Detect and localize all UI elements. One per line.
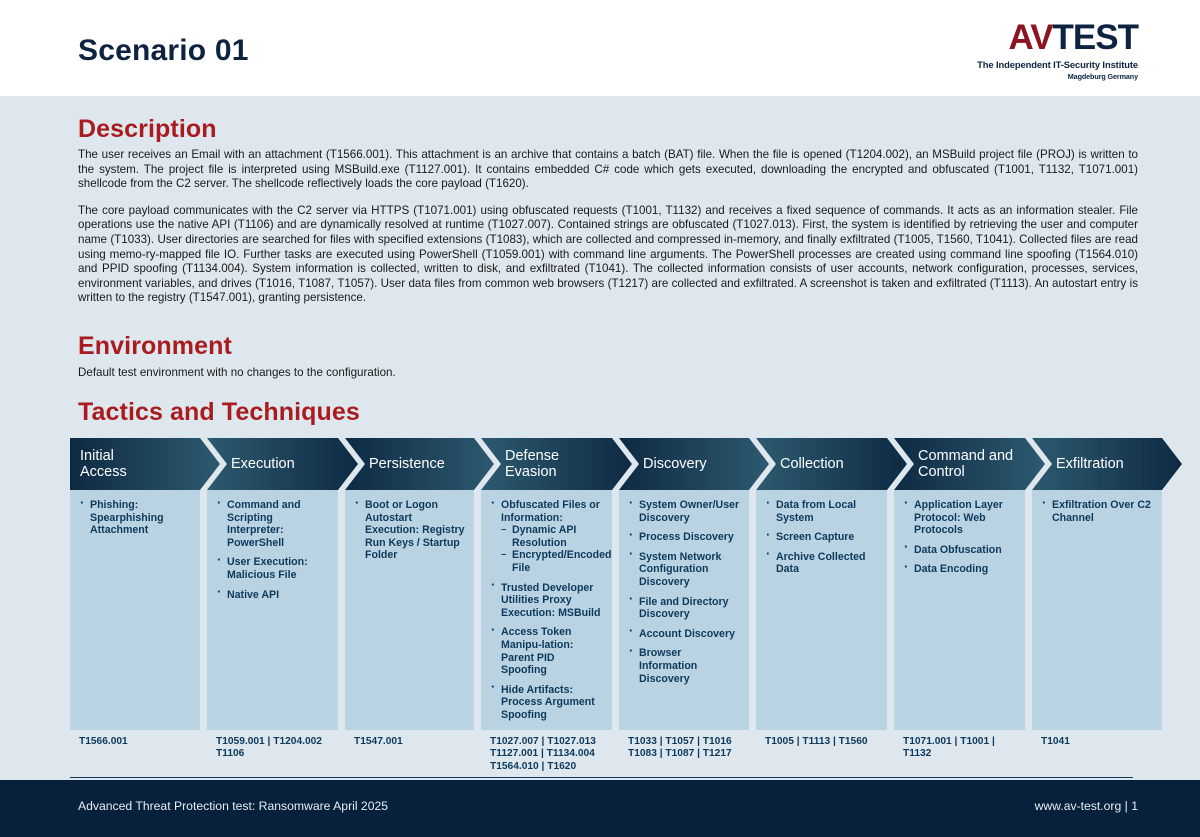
avtest-logo: AVTEST The Independent IT-Security Insti…	[960, 20, 1138, 81]
technique-item-label: File and Directory Discovery	[639, 596, 728, 621]
technique-column-2: Command and Scripting Interpreter: Power…	[207, 490, 338, 730]
page-title: Scenario 01	[78, 34, 249, 68]
technique-item-label: Application Layer Protocol: Web Protocol…	[914, 499, 1003, 536]
logo-av-text: AV	[1009, 18, 1053, 57]
technique-item-label: Data from Local System	[776, 499, 856, 524]
tactic-header-3[interactable]: Persistence	[345, 438, 494, 490]
technique-column-7: Application Layer Protocol: Web Protocol…	[894, 490, 1025, 730]
page-content: Description The user receives an Email w…	[0, 96, 1200, 780]
technique-column-4: Obfuscated Files or Information:Dynamic …	[481, 490, 612, 730]
tactic-label: Initial Access	[70, 448, 127, 480]
technique-item[interactable]: Data Obfuscation	[903, 544, 1016, 557]
technique-item[interactable]: Trusted Developer Utilities Proxy Execut…	[490, 582, 603, 620]
technique-item[interactable]: Screen Capture	[765, 531, 878, 544]
tactics-matrix: Initial AccessExecutionPersistenceDefens…	[70, 438, 1133, 778]
technique-item[interactable]: Command and Scripting Interpreter: Power…	[216, 499, 329, 549]
tactic-header-1[interactable]: Initial Access	[70, 438, 220, 490]
technique-item-label: Trusted Developer Utilities Proxy Execut…	[501, 582, 600, 619]
technique-item-label: Boot or Logon Autostart Execution: Regis…	[365, 499, 465, 561]
technique-item[interactable]: Obfuscated Files or Information:Dynamic …	[490, 499, 603, 575]
technique-item[interactable]: Browser Information Discovery	[628, 647, 740, 685]
technique-columns: Phishing: Spearphishing AttachmentComman…	[70, 490, 1133, 730]
technique-list: Boot or Logon Autostart Execution: Regis…	[354, 499, 465, 562]
technique-item[interactable]: Reflective Code Loading	[490, 729, 603, 731]
technique-item-label: Account Discovery	[639, 628, 735, 640]
logo-test-text: TEST	[1053, 18, 1138, 57]
page-footer: Advanced Threat Protection test: Ransomw…	[0, 780, 1200, 837]
technique-item-label: Screen Capture	[776, 531, 854, 543]
technique-item[interactable]: File and Directory Discovery	[628, 596, 740, 621]
technique-item[interactable]: Exfiltration Over C2 Channel	[1041, 499, 1153, 524]
technique-item[interactable]: Data from Local System	[765, 499, 878, 524]
technique-ids-8: T1041	[1032, 736, 1162, 773]
technique-ids-2: T1059.001 | T1204.002 T1106	[207, 736, 338, 773]
technique-ids-5: T1033 | T1057 | T1016 T1083 | T1087 | T1…	[619, 736, 749, 773]
technique-item-label: Phishing: Spearphishing Attachment	[90, 499, 164, 536]
technique-item[interactable]: Access Token Manipu‐lation: Parent PID S…	[490, 626, 603, 676]
technique-subitem[interactable]: Encrypted/Encoded File	[501, 549, 603, 574]
logo-wordmark: AVTEST	[960, 20, 1138, 55]
tactic-label: Execution	[207, 456, 295, 472]
technique-item[interactable]: Native API	[216, 589, 329, 602]
technique-ids-1: T1566.001	[70, 736, 200, 773]
technique-item-label: Process Discovery	[639, 531, 734, 543]
technique-item[interactable]: System Owner/User Discovery	[628, 499, 740, 524]
technique-item[interactable]: User Execution: Malicious File	[216, 556, 329, 581]
technique-list: Phishing: Spearphishing Attachment	[79, 499, 191, 537]
technique-item[interactable]: Process Discovery	[628, 531, 740, 544]
technique-column-1: Phishing: Spearphishing Attachment	[70, 490, 200, 730]
tactic-label: Collection	[756, 456, 844, 472]
technique-list: System Owner/User DiscoveryProcess Disco…	[628, 499, 740, 685]
description-heading: Description	[78, 115, 217, 144]
tactic-header-8[interactable]: Exfiltration	[1032, 438, 1182, 490]
description-paragraph: The core payload communicates with the C…	[78, 204, 1138, 306]
technique-list: Exfiltration Over C2 Channel	[1041, 499, 1153, 524]
technique-item-label: Data Encoding	[914, 563, 988, 575]
technique-item[interactable]: Boot or Logon Autostart Execution: Regis…	[354, 499, 465, 562]
technique-item-label: Access Token Manipu‐lation: Parent PID S…	[501, 626, 573, 676]
technique-list: Application Layer Protocol: Web Protocol…	[903, 499, 1016, 576]
technique-list: Data from Local SystemScreen CaptureArch…	[765, 499, 878, 576]
tactic-header-7[interactable]: Command and Control	[894, 438, 1045, 490]
technique-item[interactable]: Account Discovery	[628, 628, 740, 641]
technique-list: Command and Scripting Interpreter: Power…	[216, 499, 329, 601]
technique-item[interactable]: Archive Collected Data	[765, 551, 878, 576]
technique-ids-4: T1027.007 | T1027.013 T1127.001 | T1134.…	[481, 736, 612, 773]
technique-item-label: Command and Scripting Interpreter: Power…	[227, 499, 301, 549]
footer-test-name: Advanced Threat Protection test: Ransomw…	[78, 799, 388, 813]
technique-id-row: T1566.001T1059.001 | T1204.002 T1106T154…	[70, 736, 1133, 778]
tactics-heading: Tactics and Techniques	[78, 398, 360, 427]
technique-item-label: Data Obfuscation	[914, 544, 1002, 556]
technique-ids-3: T1547.001	[345, 736, 474, 773]
technique-item[interactable]: Hide Artifacts: Process Argument Spoofin…	[490, 684, 603, 722]
tactic-label: Command and Control	[894, 448, 1013, 480]
technique-item-label: Browser Information Discovery	[639, 647, 697, 684]
tactic-header-4[interactable]: Defense Evasion	[481, 438, 632, 490]
page-header: Scenario 01 AVTEST The Independent IT-Se…	[0, 0, 1200, 96]
tactic-label: Discovery	[619, 456, 707, 472]
technique-item-label: User Execution: Malicious File	[227, 556, 308, 581]
environment-text: Default test environment with no changes…	[78, 366, 1138, 381]
logo-tagline: The Independent IT-Security Institute	[960, 59, 1138, 70]
description-body: The user receives an Email with an attac…	[78, 148, 1138, 306]
technique-column-8: Exfiltration Over C2 Channel	[1032, 490, 1162, 730]
technique-item-label: Reflective Code Loading	[501, 729, 580, 731]
logo-location: Magdeburg Germany	[960, 72, 1138, 81]
technique-item-label: Native API	[227, 589, 279, 601]
tactic-header-2[interactable]: Execution	[207, 438, 358, 490]
technique-item-label: Obfuscated Files or Information:	[501, 499, 600, 524]
tactic-header-row: Initial AccessExecutionPersistenceDefens…	[70, 438, 1133, 490]
technique-item-label: Hide Artifacts: Process Argument Spoofin…	[501, 684, 595, 721]
technique-item-label: Exfiltration Over C2 Channel	[1052, 499, 1151, 524]
technique-column-6: Data from Local SystemScreen CaptureArch…	[756, 490, 887, 730]
technique-item[interactable]: Phishing: Spearphishing Attachment	[79, 499, 191, 537]
technique-ids-7: T1071.001 | T1001 | T1132	[894, 736, 1025, 773]
technique-item-label: System Network Configuration Discovery	[639, 551, 721, 588]
footer-url-page[interactable]: www.av-test.org | 1	[1035, 799, 1138, 813]
environment-heading: Environment	[78, 332, 232, 361]
technique-column-5: System Owner/User DiscoveryProcess Disco…	[619, 490, 749, 730]
scenario-page: Scenario 01 AVTEST The Independent IT-Se…	[0, 0, 1200, 837]
technique-item[interactable]: Application Layer Protocol: Web Protocol…	[903, 499, 1016, 537]
technique-subitem[interactable]: Dynamic API Resolution	[501, 524, 603, 549]
technique-ids-6: T1005 | T1113 | T1560	[756, 736, 887, 773]
technique-item-label: System Owner/User Discovery	[639, 499, 739, 524]
technique-sublist: Dynamic API ResolutionEncrypted/Encoded …	[501, 524, 603, 574]
technique-column-3: Boot or Logon Autostart Execution: Regis…	[345, 490, 474, 730]
technique-item[interactable]: System Network Configuration Discovery	[628, 551, 740, 589]
tactic-label: Persistence	[345, 456, 445, 472]
description-paragraph: The user receives an Email with an attac…	[78, 148, 1138, 192]
tactic-label: Exfiltration	[1032, 456, 1124, 472]
technique-item[interactable]: Data Encoding	[903, 563, 1016, 576]
technique-item-label: Archive Collected Data	[776, 551, 866, 576]
tactic-header-5[interactable]: Discovery	[619, 438, 769, 490]
tactic-header-6[interactable]: Collection	[756, 438, 907, 490]
technique-list: Obfuscated Files or Information:Dynamic …	[490, 499, 603, 730]
